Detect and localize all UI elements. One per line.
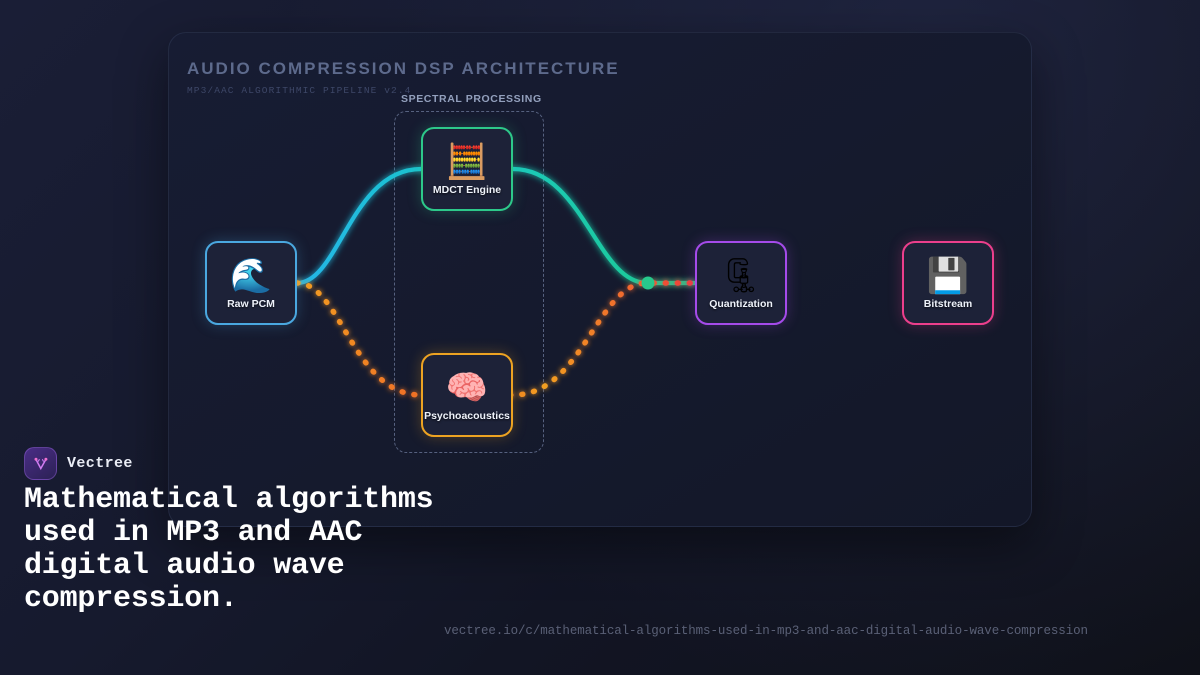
diagram-card: AUDIO COMPRESSION DSP ARCHITECTURE MP3/A… xyxy=(168,32,1032,527)
brand-name: Vectree xyxy=(67,455,133,472)
node-quantization[interactable]: 🗜 Quantization xyxy=(695,241,787,325)
node-label: MDCT Engine xyxy=(433,184,501,196)
caption-text: Mathematical algorithms used in MP3 and … xyxy=(24,484,454,616)
node-label: Bitstream xyxy=(924,298,972,310)
abacus-emoji: 🧮 xyxy=(446,142,488,182)
node-raw-pcm[interactable]: 🌊 Raw PCM xyxy=(205,241,297,325)
vectree-v-waveform-icon xyxy=(24,447,57,480)
node-psychoacoustics[interactable]: 🧠 Psychoacoustics xyxy=(421,353,513,437)
node-bitstream[interactable]: 💾 Bitstream xyxy=(902,241,994,325)
node-label: Quantization xyxy=(709,298,773,310)
screenshot-stage: AUDIO COMPRESSION DSP ARCHITECTURE MP3/A… xyxy=(0,0,1200,675)
edge-flow-marker-dot xyxy=(642,277,655,290)
source-url: vectree.io/c/mathematical-algorithms-use… xyxy=(444,624,1088,638)
node-label: Psychoacoustics xyxy=(424,410,510,422)
ocean-wave-emoji: 🌊 xyxy=(230,256,272,296)
node-label: Raw PCM xyxy=(227,298,275,310)
brain-emoji: 🧠 xyxy=(446,368,488,408)
node-mdct-engine[interactable]: 🧮 MDCT Engine xyxy=(421,127,513,211)
floppy-disk-emoji: 💾 xyxy=(927,256,969,296)
brand: Vectree xyxy=(24,447,133,480)
clamp-emoji: 🗜 xyxy=(719,256,762,296)
